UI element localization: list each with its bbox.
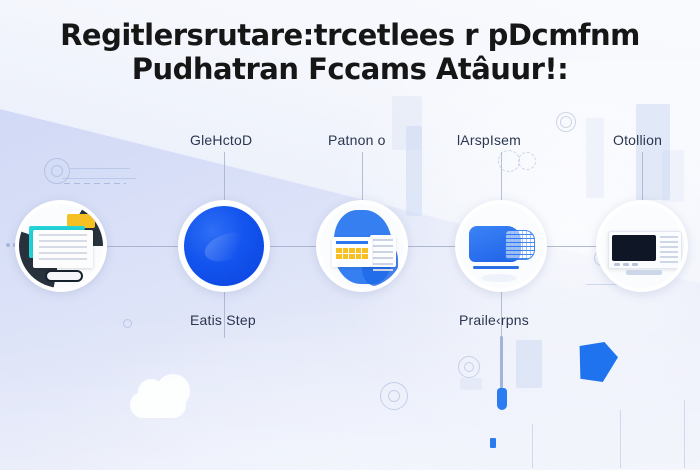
node-2-top-label: GleHctoD [190,132,252,148]
timeline-node-2[interactable] [178,200,270,292]
stem-node-4-up [501,152,502,200]
form-card-icon [320,204,404,288]
monitor-screen-icon [600,204,684,288]
deco-line-left-1 [70,168,130,169]
blue-sphere-icon [182,204,266,288]
document-window-icon [19,204,103,288]
stem-node-5-up [642,152,643,200]
node-3-top-label: Patnon o [328,132,386,148]
node-4-bottom-label: Praile‹rpns [459,312,529,328]
page-title-line-2: Pudhatran Fccams Atâuur!: [0,52,700,86]
deco-ring-left-inner [51,165,63,177]
node-5-top-label: Otollion [613,132,662,148]
timeline-node-4[interactable] [455,200,547,292]
deco-ring-left [44,158,70,184]
page-title-line-1: Regitlersrutare:trcetlees r pDcmfnm [0,18,700,52]
deco-line-left-2 [62,178,136,179]
timeline-node-1[interactable] [15,200,107,292]
node-2-bottom-label: Eatis Step [190,312,256,328]
blue-pill-shape [497,388,507,410]
node-4-top-label: lArspIsem [457,132,521,148]
blue-device-icon [459,204,543,288]
deco-dashline-left [64,183,126,184]
stem-node-3-up [362,152,363,200]
stem-node-2-up [224,152,225,200]
cloud-shape [130,392,186,418]
page-title: Regitlersrutare:trcetlees r pDcmfnm Pudh… [0,18,700,86]
timeline-node-3[interactable] [316,200,408,292]
infographic-canvas: Regitlersrutare:trcetlees r pDcmfnm Pudh… [0,0,700,470]
deco-thin-vertical-bar [500,336,503,394]
timeline-node-5[interactable] [596,200,688,292]
